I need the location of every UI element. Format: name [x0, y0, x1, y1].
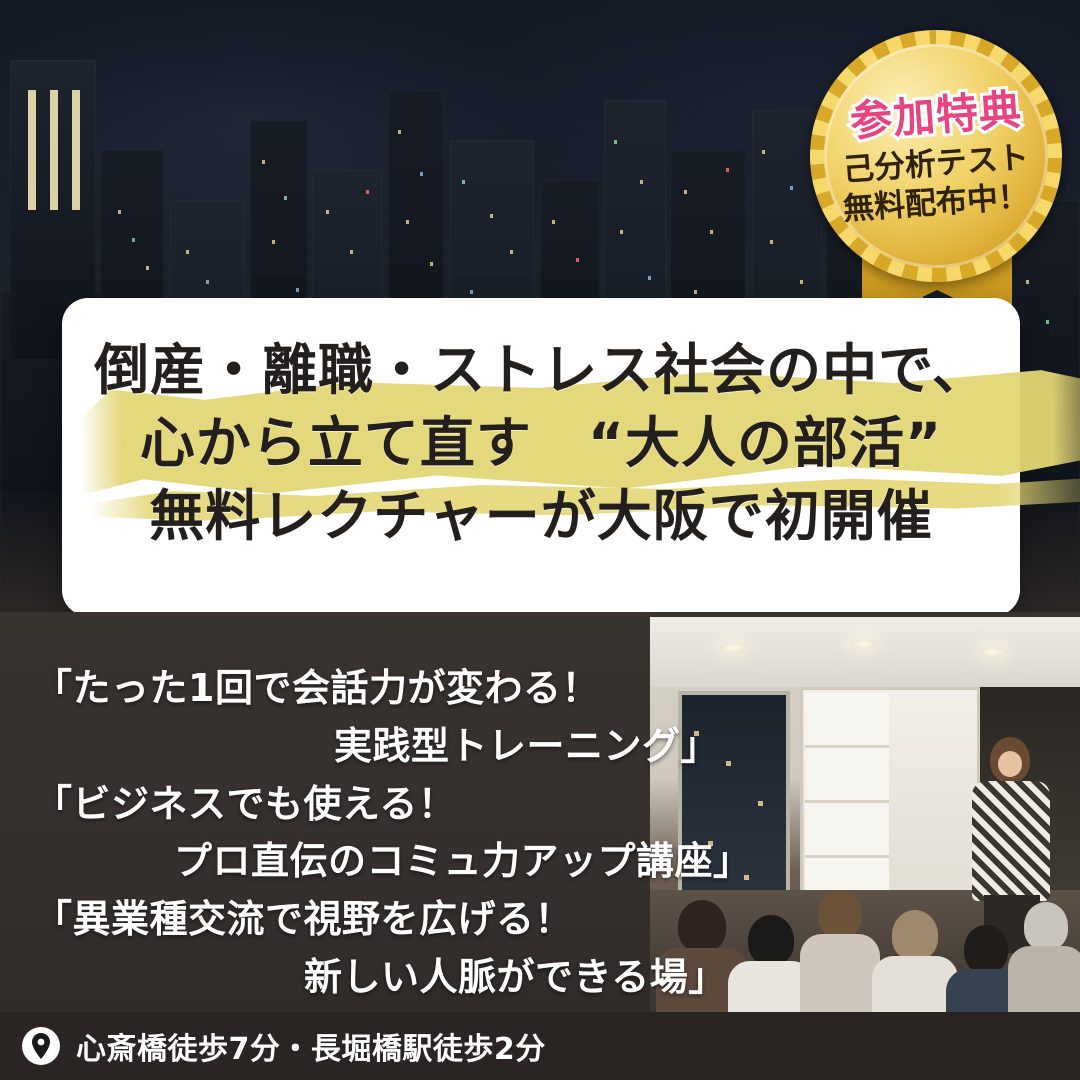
ceiling [650, 617, 1080, 687]
headline-line-3: 無料レクチャーが大阪で初開催 [62, 480, 1020, 553]
ceiling-light [850, 639, 876, 649]
quote-line-3: 「ビジネスでも使える！ [34, 776, 674, 834]
quote-line-2: 実践型トレーニング」 [34, 718, 674, 776]
ceiling-light [980, 647, 1006, 657]
badge-title: 参加特典 [848, 85, 1023, 146]
quote-line-4: プロ直伝のコミュ力アップ講座」 [34, 833, 674, 891]
quote-line-6: 新しい人脈ができる場」 [34, 949, 674, 1007]
location-pin-icon [22, 1027, 60, 1065]
access-text: 心斎橋徒歩7分・長堀橋駅徒歩2分 [76, 1024, 546, 1068]
headline-card: 倒産・離職・ストレス社会の中で、 心から立て直す “大人の部活” 無料レクチャー… [62, 298, 1020, 616]
quote-line-5: 「異業種交流で視野を広げる！ [34, 891, 674, 949]
participation-benefit-badge: 参加特典 己分析テスト 無料配布中！ [802, 26, 1072, 326]
headline-line-2: 心から立て直す “大人の部活” [62, 407, 1020, 480]
poster-root: 参加特典 己分析テスト 無料配布中！ 倒産・離職・ストレス社会の中で、 心から立… [0, 0, 1080, 1080]
quote-line-1: 「たった1回で会話力が変わる！ [34, 660, 674, 718]
access-footer-bar: 心斎橋徒歩7分・長堀橋駅徒歩2分 [0, 1012, 1080, 1080]
page-title: 倒産・離職・ストレス社会の中で、 心から立て直す “大人の部活” 無料レクチャー… [62, 334, 1020, 553]
ceiling-light [720, 643, 746, 653]
headline-line-1: 倒産・離職・ストレス社会の中で、 [62, 334, 1020, 407]
benefit-quote-list: 「たった1回で会話力が変わる！ 実践型トレーニング」 「ビジネスでも使える！ プ… [34, 660, 674, 1007]
badge-content: 参加特典 己分析テスト 無料配布中！ [810, 30, 1062, 282]
